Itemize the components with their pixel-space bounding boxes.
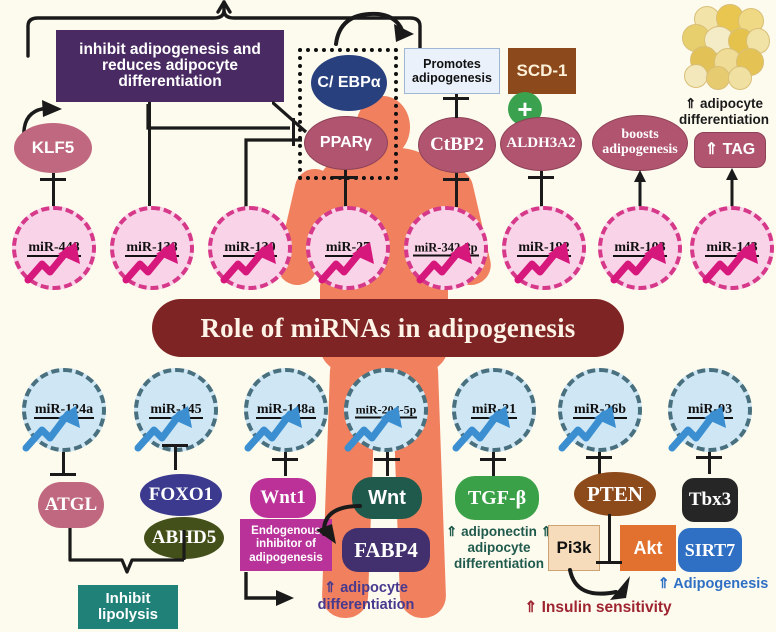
node-cebpa-label: C/ EBPα xyxy=(317,75,380,92)
node-akt-label: Akt xyxy=(633,539,662,558)
mirna-node-mir-26b[interactable]: miR-26b xyxy=(558,368,642,452)
inhibit-adipogenesis-box: inhibit adipogenesis and reduces adipocy… xyxy=(56,30,284,102)
insulin-sensitivity-caption: ⇑ Insulin sensitivity xyxy=(508,598,688,617)
node-klf5-label: KLF5 xyxy=(32,139,75,157)
diagram-canvas: inhibit adipogenesis and reduces adipocy… xyxy=(0,0,776,632)
adipogenesis-caption-label: ⇑ Adipogenesis xyxy=(658,576,769,592)
node-sirt7-label: SIRT7 xyxy=(685,541,735,560)
node-akt: Akt xyxy=(620,525,676,571)
node-tgfb: TGF-β xyxy=(455,476,539,520)
mirna-node-mir-148a[interactable]: miR-148a xyxy=(244,368,328,452)
mirna-node-mir-192[interactable]: miR-192 xyxy=(502,206,586,290)
connector-mir148a-wnt1-bar xyxy=(272,458,298,461)
node-pten: PTEN xyxy=(574,472,656,516)
node-pten-label: PTEN xyxy=(587,483,643,505)
connector-tag-adipocyte xyxy=(722,166,742,172)
node-tag-label: ⇑ TAG xyxy=(705,142,755,159)
connector-mir103-boosts xyxy=(630,170,650,210)
connector-pparg-mir27-bar xyxy=(332,176,358,179)
curved-arrow-top xyxy=(330,4,420,50)
node-ctbp2-label: CtBP2 xyxy=(430,135,484,155)
connector-wnt-fabp4 xyxy=(306,500,366,554)
node-foxo1-label: FOXO1 xyxy=(149,485,213,505)
mirna-node-mir-27[interactable]: miR-27 xyxy=(306,206,390,290)
node-sirt7: SIRT7 xyxy=(678,528,742,572)
node-scd1: SCD-1 xyxy=(508,48,576,94)
node-scd1-label: SCD-1 xyxy=(516,62,567,80)
mirna-node-mir-448[interactable]: miR-448 xyxy=(12,206,96,290)
node-ctbp2: CtBP2 xyxy=(418,117,496,173)
promotes-adipogenesis-label: Promotes adipogenesis xyxy=(409,57,495,85)
mirna-node-mir-130[interactable]: miR-130 xyxy=(208,206,292,290)
node-wnt1-label: Wnt1 xyxy=(260,488,305,508)
connector-pten-inhibit-bar xyxy=(596,561,622,564)
mirna-node-mir-143[interactable]: miR-143 xyxy=(690,206,774,290)
connector-endogenous-caption xyxy=(238,570,300,614)
connector-mir124a-atgl-bar xyxy=(50,473,76,476)
node-aldh3a2-label: ALDH3A2 xyxy=(506,136,575,152)
connector-mir145-foxo1-bar xyxy=(162,444,188,447)
node-tbx3-label: Tbx3 xyxy=(689,490,731,510)
connector-mir145-foxo1 xyxy=(174,444,177,470)
mirna-node-mir-93[interactable]: miR-93 xyxy=(668,368,752,452)
connector-pten-inhibit xyxy=(608,514,611,564)
connector-lipolysis-bracket xyxy=(62,528,192,584)
connector-aldh-mir192-bar xyxy=(528,176,554,179)
adipocyte-differentiation-caption: ⇑ adipocyte differentiation xyxy=(672,96,776,128)
node-pi3k-label: Pi3k xyxy=(557,538,592,558)
fabp4-caption: ⇑ adipocyte differentiation xyxy=(292,580,440,613)
mirna-node-mir-342-3p[interactable]: miR-342-3p xyxy=(404,206,488,290)
mirna-node-mir-204-5p[interactable]: miR-204-5p xyxy=(344,368,428,452)
promotes-adipogenesis-box: Promotes adipogenesis xyxy=(404,48,500,94)
insulin-sensitivity-label: ⇑ Insulin sensitivity xyxy=(524,599,671,616)
node-atgl-label: ATGL xyxy=(45,495,97,515)
node-tbx3: Tbx3 xyxy=(682,478,738,522)
node-tgfb-label: TGF-β xyxy=(468,488,526,509)
connector-mir148a-wnt1 xyxy=(284,452,287,476)
main-title-banner: Role of miRNAs in adipogenesis xyxy=(152,299,624,357)
tgfb-caption-label: ⇑ adiponectin ⇑ adipocyte differentiatio… xyxy=(446,524,552,571)
connector-mir204-wnt xyxy=(386,452,389,476)
mirna-node-mir-103[interactable]: miR-103 xyxy=(598,206,682,290)
connector-inhibit-to-pparg-diagonal xyxy=(272,96,332,150)
node-wnt-label: Wnt xyxy=(368,488,406,509)
fabp4-caption-label: ⇑ adipocyte differentiation xyxy=(318,580,415,613)
connector-mir26b-pten-bar xyxy=(586,456,612,459)
connector-ctbp2-mir342-bar xyxy=(443,178,469,181)
node-boosts-adipogenesis-label: boosts adipogenesis xyxy=(599,128,681,157)
node-foxo1: FOXO1 xyxy=(140,474,222,516)
connector-mir21-tgfb xyxy=(492,452,495,476)
connector-promotes-ctbp2-bar xyxy=(443,97,469,100)
node-atgl: ATGL xyxy=(38,482,104,528)
mirna-node-mir-138[interactable]: miR-138 xyxy=(110,206,194,290)
pparg-inhibit-bar xyxy=(292,118,295,146)
connector-mir21-tgfb-bar xyxy=(480,458,506,461)
inhibit-adipogenesis-label: inhibit adipogenesis and reduces adipocy… xyxy=(64,42,276,91)
node-klf5: KLF5 xyxy=(14,123,92,173)
node-tag: ⇑ TAG xyxy=(694,132,766,168)
mirna-node-mir-21[interactable]: miR-21 xyxy=(452,368,536,452)
node-inhibit-lipolysis-label: Inhibit lipolysis xyxy=(78,591,178,623)
tgfb-caption: ⇑ adiponectin ⇑ adipocyte differentiatio… xyxy=(440,524,558,573)
node-aldh3a2: ALDH3A2 xyxy=(500,117,582,171)
main-title-label: Role of miRNAs in adipogenesis xyxy=(200,313,575,344)
adipogenesis-caption: ⇑ Adipogenesis xyxy=(650,576,776,592)
connector-mir204-wnt-bar xyxy=(374,458,400,461)
connector-mir143-tag xyxy=(722,168,742,210)
mirna-node-mir-145[interactable]: miR-145 xyxy=(134,368,218,452)
adipocyte-differentiation-label: ⇑ adipocyte differentiation xyxy=(679,96,769,127)
connector-klf5-mir448-bar xyxy=(40,178,66,181)
adipocyte-cluster-icon xyxy=(676,4,772,90)
connector-mir93-tbx3-bar xyxy=(696,456,722,459)
mirna-node-mir-124a[interactable]: miR-124a xyxy=(22,368,106,452)
node-inhibit-lipolysis: Inhibit lipolysis xyxy=(78,585,178,629)
node-pi3k: Pi3k xyxy=(548,525,600,571)
